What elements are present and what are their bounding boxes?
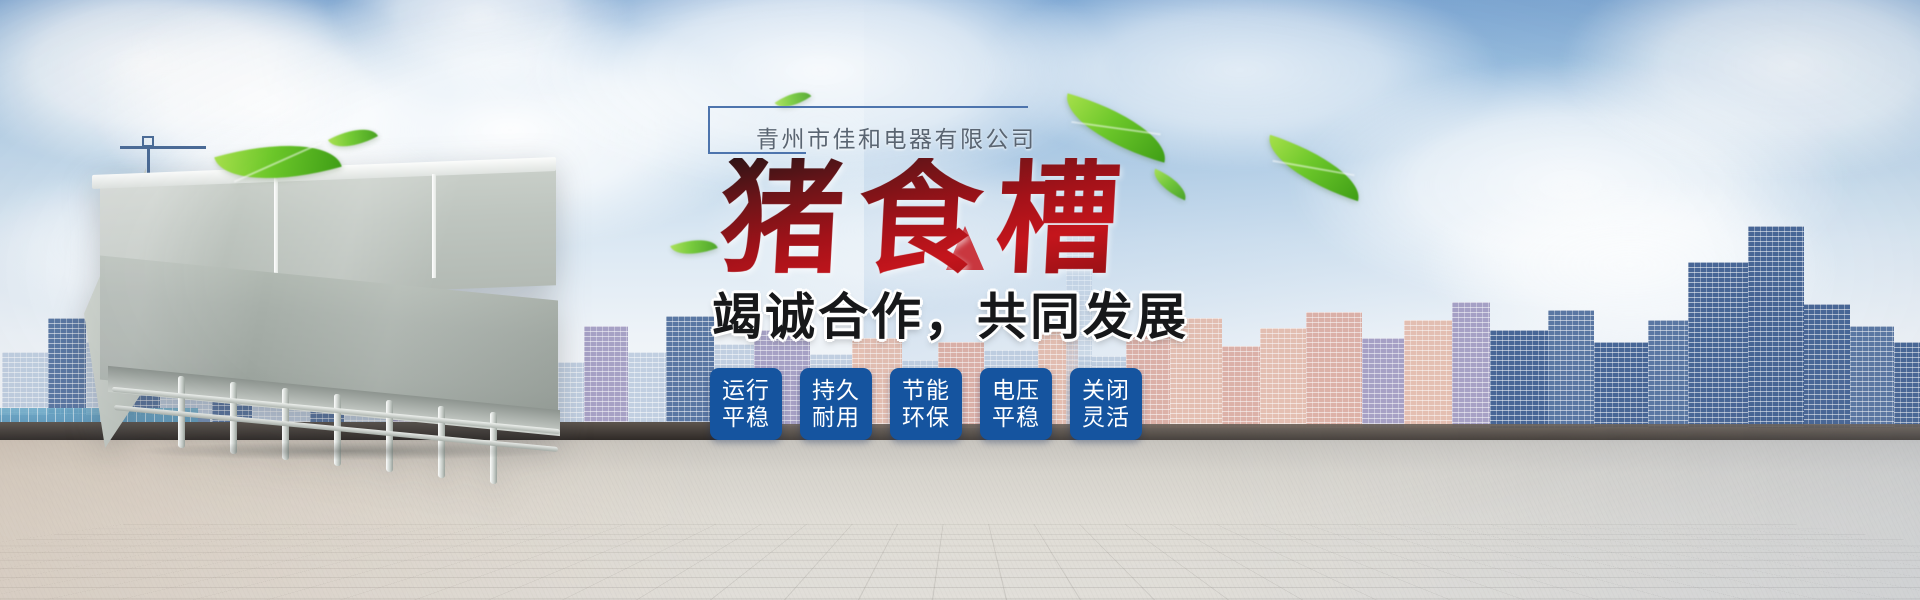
feature-tag-2-line2: 耐用 [812,404,860,431]
trough-divider [432,174,436,278]
feature-tag-4-line1: 电压 [992,377,1040,404]
feature-tag-3[interactable]: 节能 环保 [890,368,962,440]
feature-tag-1-line1: 运行 [722,377,770,404]
feature-tag-4[interactable]: 电压 平稳 [980,368,1052,440]
page-title: 猪食槽 [717,158,1138,282]
feature-tag-5-line1: 关闭 [1082,377,1130,404]
feature-tag-4-line2: 平稳 [992,404,1040,431]
subtitle-slogan: 竭诚合作，共同发展 [712,292,1189,342]
feature-tag-3-line2: 环保 [902,404,950,431]
feature-tag-2[interactable]: 持久 耐用 [800,368,872,440]
feature-tag-1-line2: 平稳 [722,404,770,431]
promo-banner: 青州市佳和电器有限公司 猪食槽 竭诚合作，共同发展 运行 平稳 持久 耐用 节能… [0,0,1920,600]
banner-copy-block: 青州市佳和电器有限公司 猪食槽 竭诚合作，共同发展 运行 平稳 持久 耐用 节能… [690,96,1290,556]
construction-crane-icon [120,146,206,149]
trough-divider [274,174,278,278]
feature-tag-list: 运行 平稳 持久 耐用 节能 环保 电压 平稳 关闭 灵活 [710,368,1142,440]
feature-tag-3-line1: 节能 [902,377,950,404]
construction-crane-cab [142,136,154,147]
feature-tag-5-line2: 灵活 [1082,404,1130,431]
feature-tag-5[interactable]: 关闭 灵活 [1070,368,1142,440]
feature-tag-2-line1: 持久 [812,377,860,404]
product-image-pig-feeding-trough [78,160,578,460]
feature-tag-1[interactable]: 运行 平稳 [710,368,782,440]
product-shadow [138,442,558,460]
company-name: 青州市佳和电器有限公司 [756,120,1037,154]
